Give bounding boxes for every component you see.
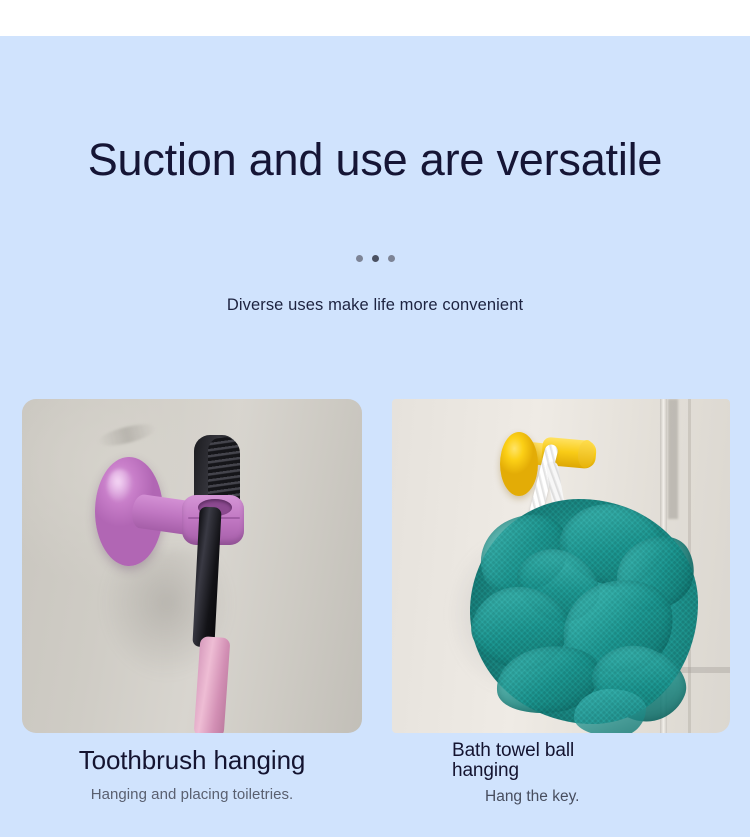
feature-card-toothbrush xyxy=(22,399,362,733)
feature-title: Toothbrush hanging xyxy=(22,745,362,776)
divider-dot-3 xyxy=(388,255,395,262)
dot-divider xyxy=(0,255,750,262)
yellow-suction-cup-icon xyxy=(500,432,538,496)
divider-dot-1 xyxy=(356,255,363,262)
tile-shadow-strip xyxy=(668,399,678,519)
feature-photo-bath-ball xyxy=(392,399,730,733)
feature-description: Hang the key. xyxy=(485,788,652,806)
divider-dot-2 xyxy=(372,255,379,262)
page-title: Suction and use are versatile xyxy=(0,134,750,186)
feature-caption-toothbrush: Toothbrush hanging Hanging and placing t… xyxy=(22,745,362,803)
top-white-band xyxy=(0,0,750,36)
page-subtitle: Diverse uses make life more convenient xyxy=(0,296,750,315)
feature-card-bath-ball xyxy=(392,399,730,733)
product-feature-page: Suction and use are versatile Diverse us… xyxy=(0,0,750,837)
feature-caption-bath-ball: Bath towel ball hanging Hang the key. xyxy=(452,741,652,806)
suction-cup-highlight xyxy=(107,469,133,503)
feature-title: Bath towel ball hanging xyxy=(452,741,602,780)
feature-description: Hanging and placing toiletries. xyxy=(22,786,362,803)
feature-photo-toothbrush xyxy=(22,399,362,733)
